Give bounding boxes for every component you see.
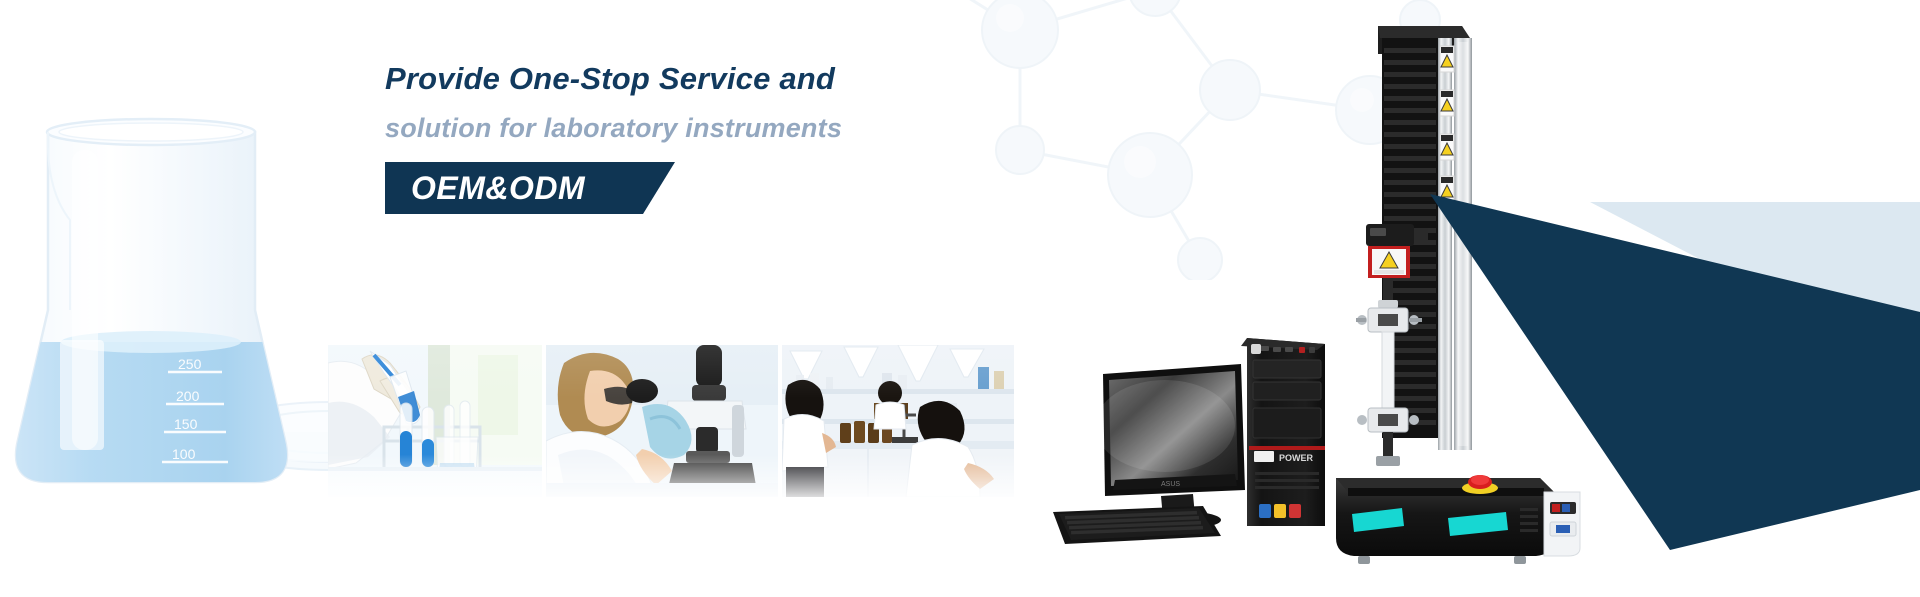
headline-line-1: Provide One-Stop Service and [385, 58, 1005, 100]
oem-odm-badge: OEM&ODM [385, 162, 675, 214]
lower-grip [1357, 408, 1419, 466]
photo-pipetting-test-tubes [328, 345, 542, 497]
headline-line-2: solution for laboratory instruments [385, 108, 1005, 149]
photo-microscope-researcher [546, 345, 778, 497]
lab-photo-strip [328, 345, 1014, 497]
svg-text:200: 200 [176, 388, 200, 404]
monitor: ASUS [1095, 364, 1245, 529]
load-cell [1366, 224, 1428, 278]
svg-text:150: 150 [174, 416, 198, 432]
keyboard [1053, 506, 1221, 544]
headline-block: Provide One-Stop Service and solution fo… [385, 58, 1005, 214]
arrow-light [1590, 202, 1920, 326]
pc-tower: POWER [1241, 338, 1325, 526]
badge-label: OEM&ODM [411, 170, 585, 207]
svg-text:ASUS: ASUS [1161, 481, 1180, 488]
svg-text:100: 100 [172, 446, 196, 462]
universal-testing-machine [1330, 8, 1590, 568]
upper-grip [1356, 278, 1422, 332]
hero-banner: 250 200 150 100 Pro [0, 0, 1920, 597]
svg-text:POWER: POWER [1279, 453, 1314, 463]
machine-base [1336, 475, 1580, 564]
photo-lab-bench-team [782, 345, 1014, 497]
desktop-computer: POWER ASUS [1035, 330, 1335, 545]
svg-text:250: 250 [178, 356, 202, 372]
warning-label [1440, 46, 1454, 202]
arrow-dark [1430, 194, 1920, 550]
decorative-arrows [1430, 130, 1920, 550]
